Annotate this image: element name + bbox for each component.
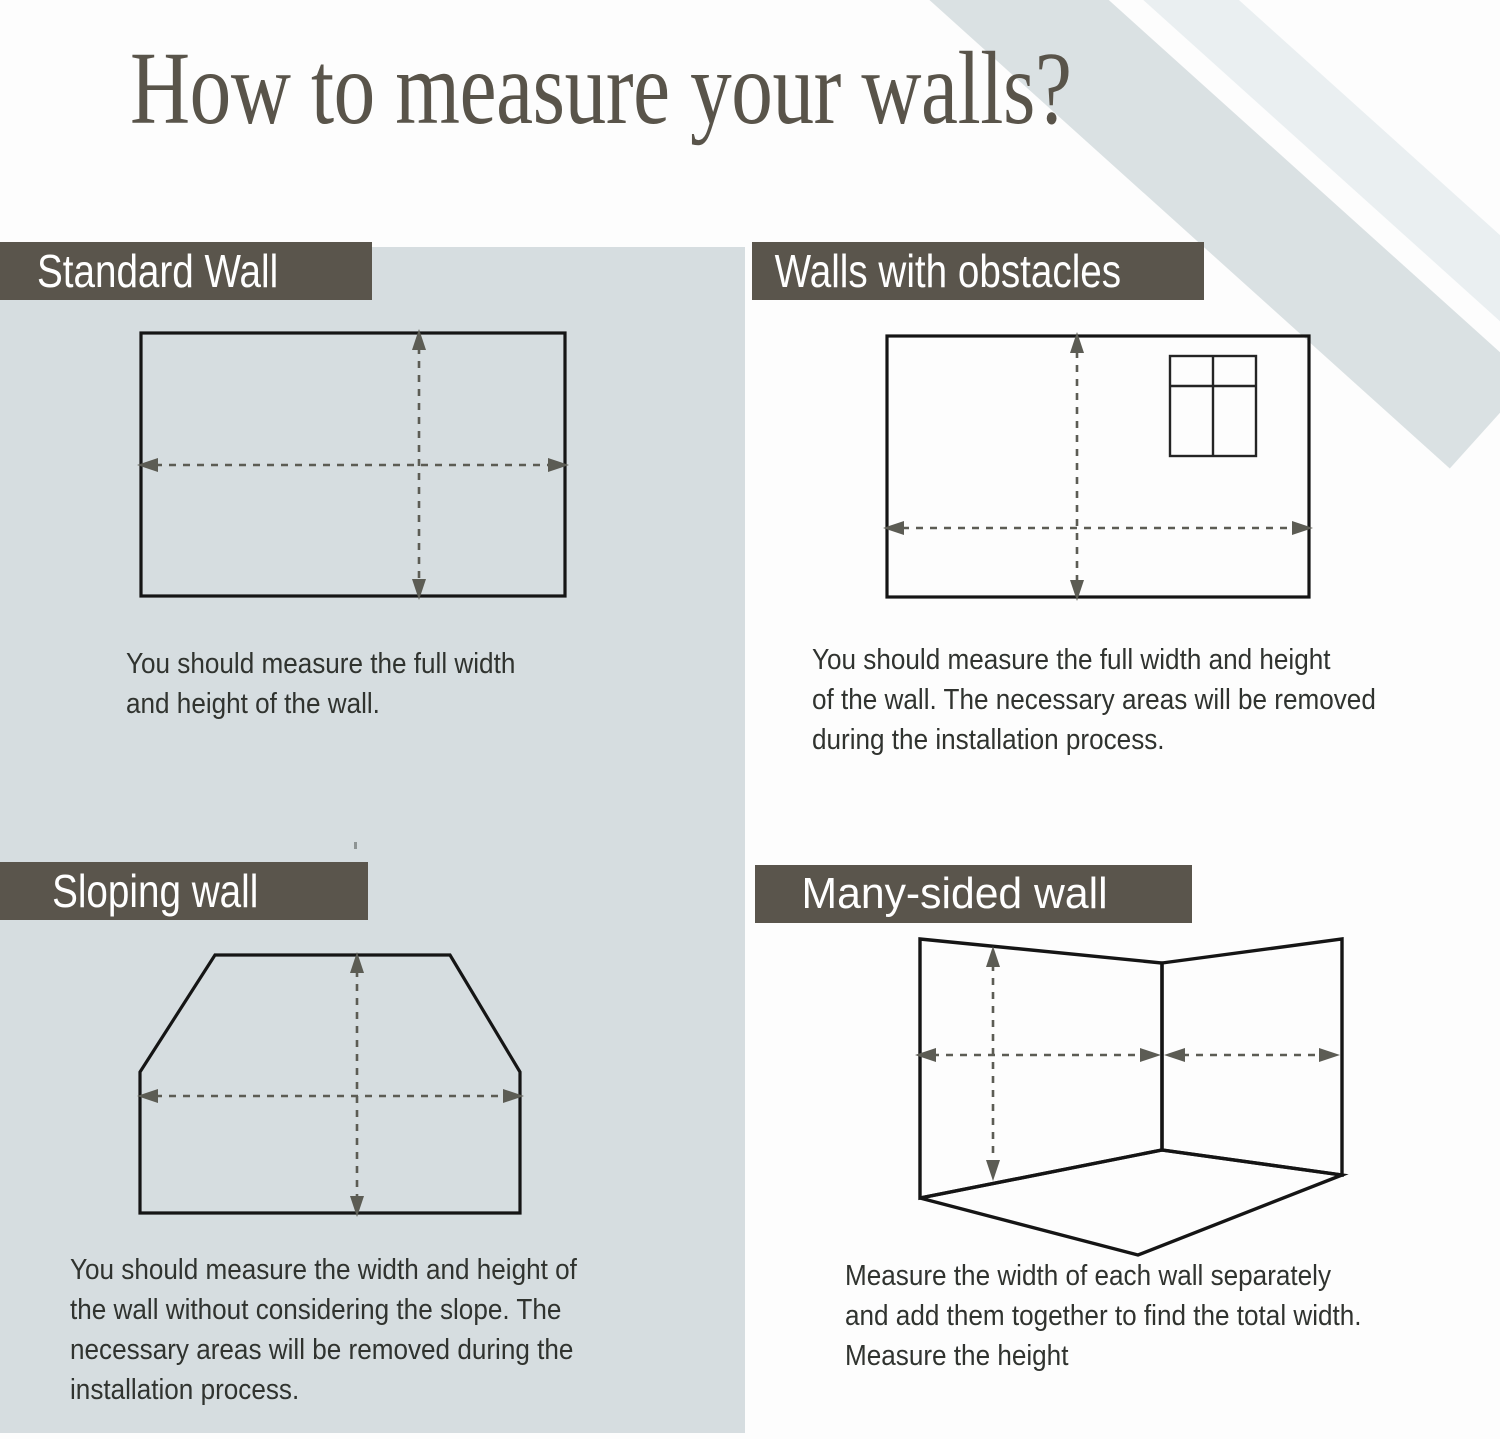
wall-rectangle	[887, 336, 1309, 597]
width-dimension-arrow	[883, 521, 1313, 535]
section-header-standard-wall-label: Standard Wall	[0, 244, 278, 298]
diagram-standard-wall	[110, 310, 610, 620]
section-header-many-sided-wall-label: Many-sided wall	[755, 869, 1108, 919]
decorative-speck	[354, 842, 357, 849]
caption-many-sided-wall: Measure the width of each wall separatel…	[845, 1256, 1493, 1376]
width-dimension-arrow-left-wall	[915, 1048, 1161, 1062]
diagram-many-sided-wall	[870, 910, 1390, 1290]
infographic-canvas: How to measure your walls? Standard Wall…	[0, 0, 1500, 1439]
diagram-sloping-wall	[110, 930, 610, 1235]
section-header-sloping-wall-label: Sloping wall	[0, 864, 258, 918]
window-icon	[1170, 356, 1256, 456]
section-header-standard-wall: Standard Wall	[0, 242, 372, 300]
caption-standard-wall: You should measure the full width and he…	[126, 644, 630, 724]
section-header-walls-with-obstacles: Walls with obstacles	[752, 242, 1204, 300]
page-title: How to measure your walls?	[130, 32, 1130, 146]
height-dimension-arrow	[350, 952, 364, 1217]
right-wall-face	[1162, 939, 1342, 1175]
caption-sloping-wall: You should measure the width and height …	[70, 1250, 700, 1410]
width-dimension-arrow	[137, 458, 569, 472]
diagram-walls-with-obstacles	[850, 310, 1360, 620]
width-dimension-arrow-right-wall	[1164, 1048, 1340, 1062]
wall-sloped-outline	[140, 955, 520, 1213]
height-dimension-arrow	[986, 946, 1000, 1181]
section-header-sloping-wall: Sloping wall	[0, 862, 368, 920]
floor-face	[920, 1150, 1342, 1255]
left-wall-face	[920, 939, 1162, 1198]
section-header-walls-with-obstacles-label: Walls with obstacles	[752, 244, 1121, 298]
section-header-many-sided-wall: Many-sided wall	[755, 865, 1192, 923]
width-dimension-arrow	[137, 1089, 524, 1103]
caption-walls-with-obstacles: You should measure the full width and he…	[812, 640, 1496, 760]
height-dimension-arrow	[1070, 332, 1084, 601]
